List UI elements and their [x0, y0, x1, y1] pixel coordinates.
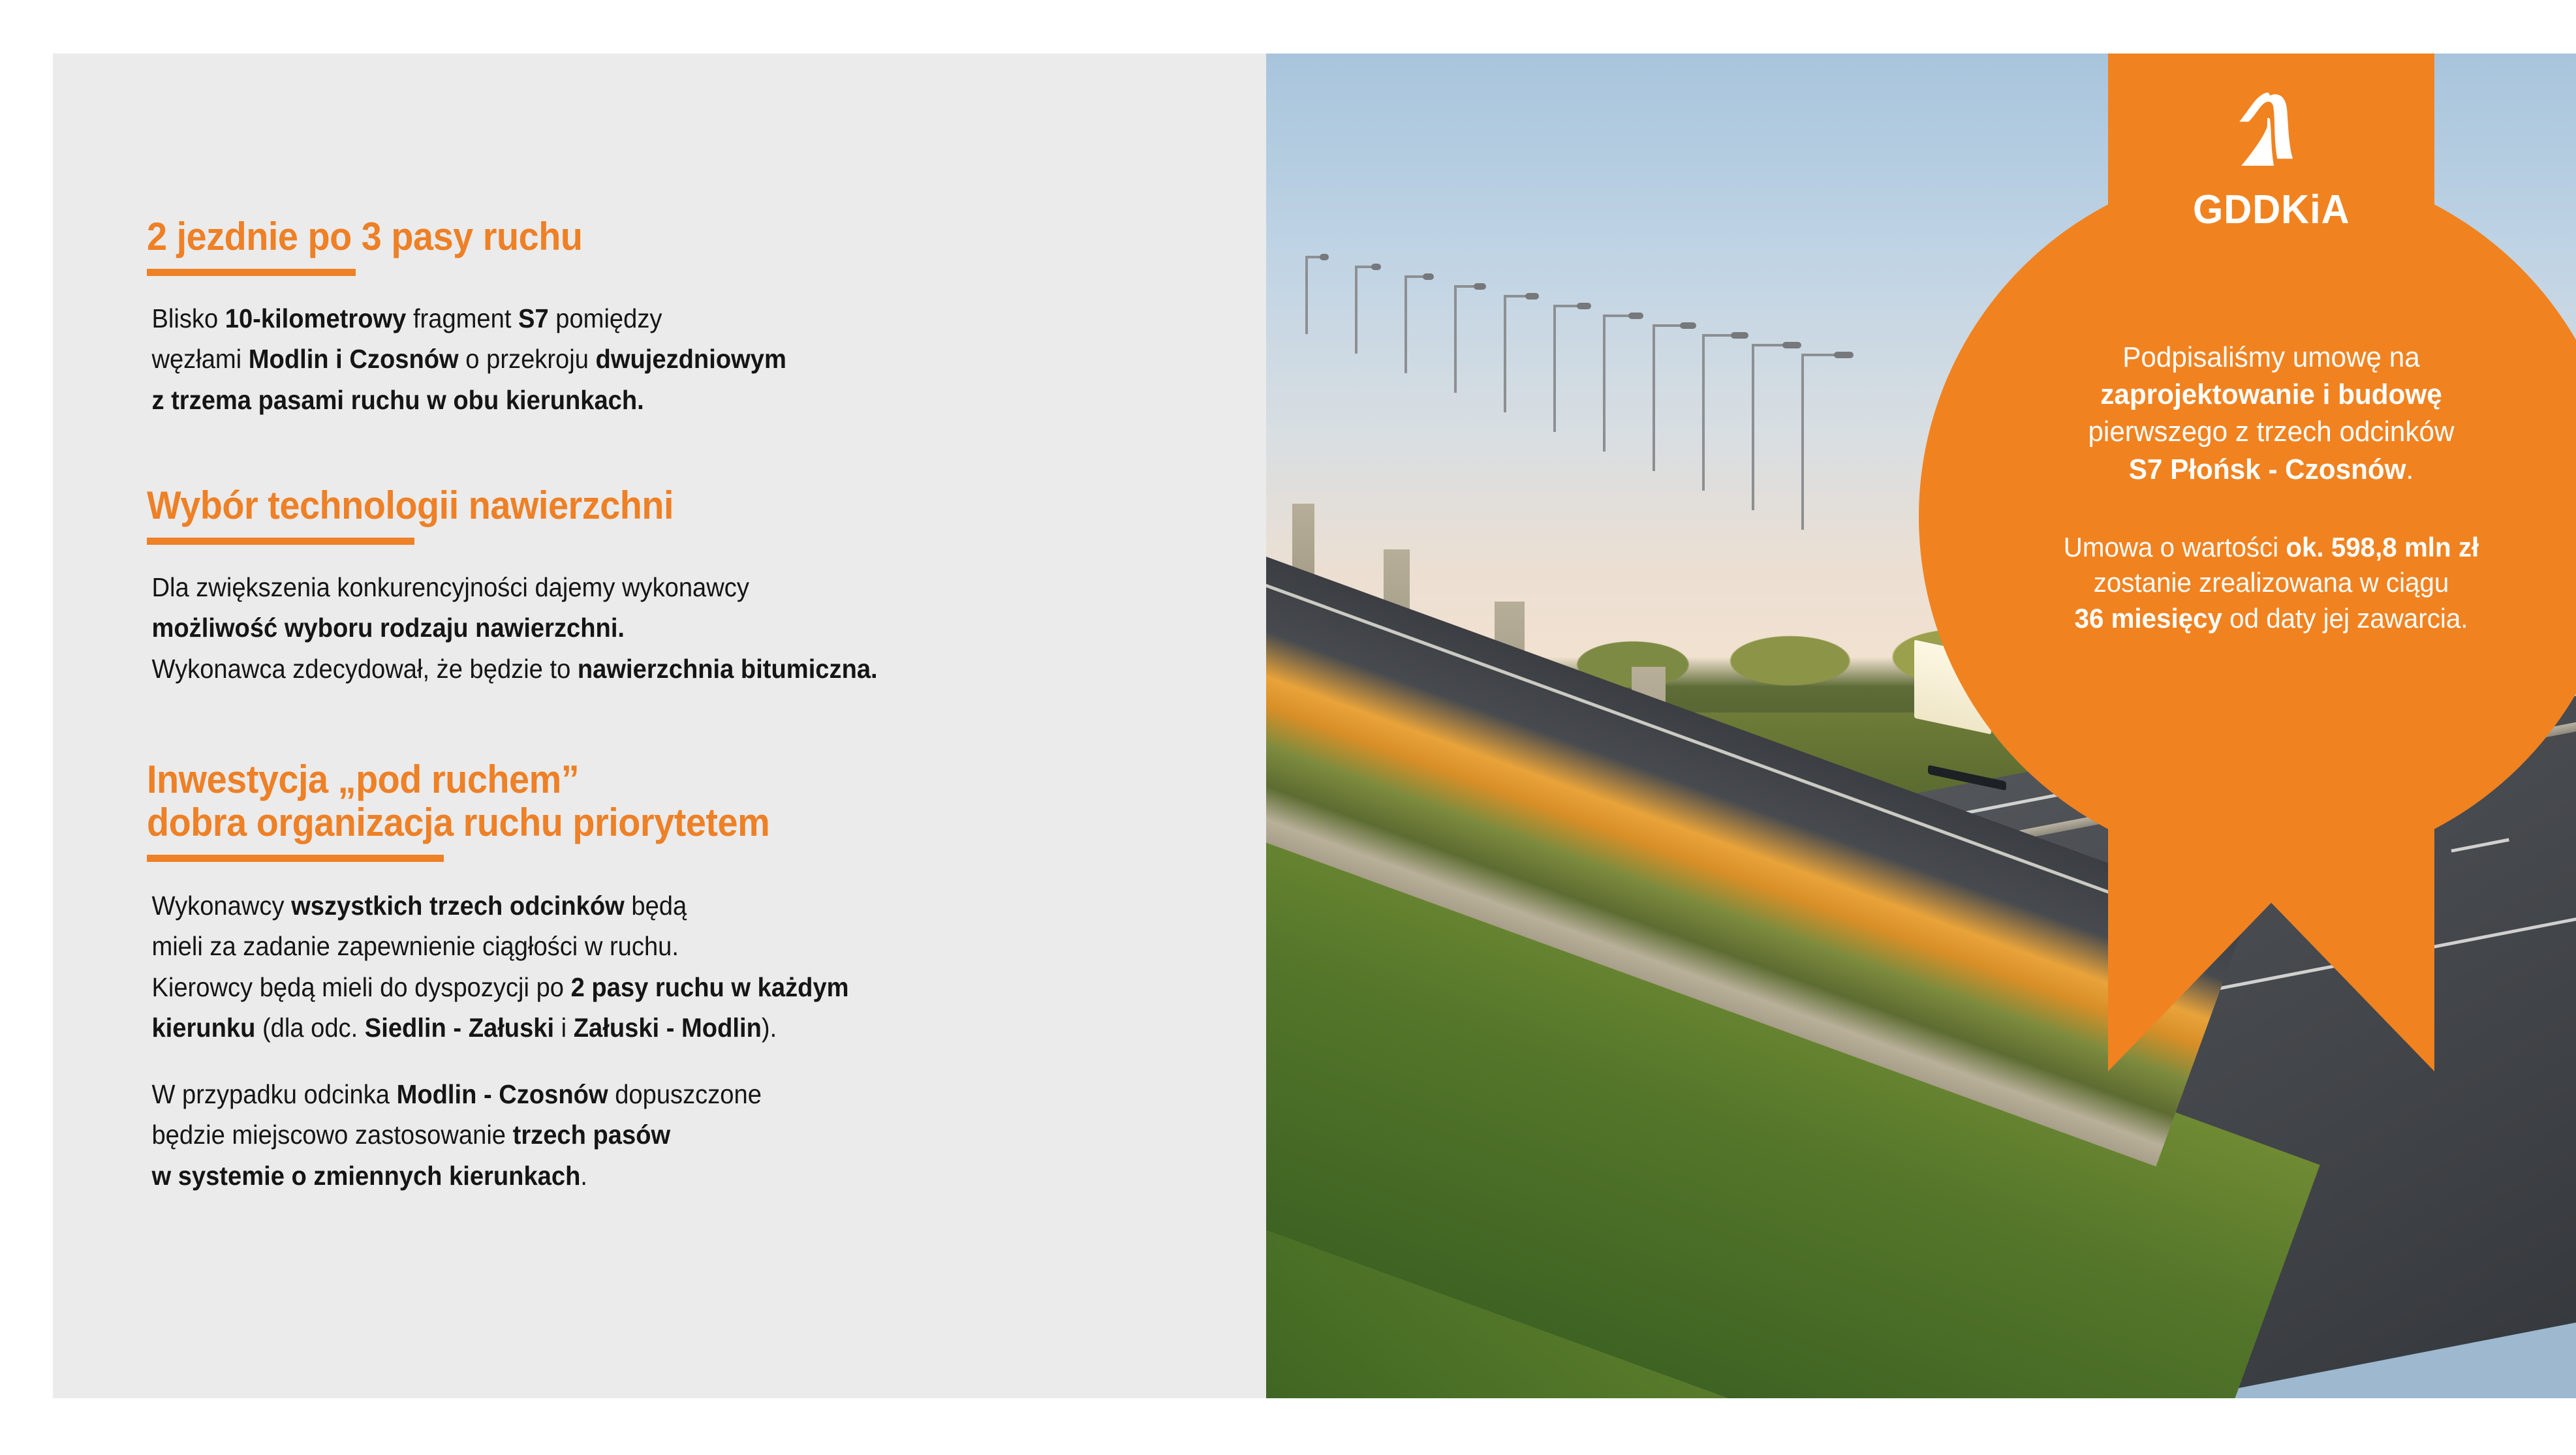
plain-text: Dla zwiększenia konkurencyjności dajemy … [151, 572, 749, 602]
heading-underline-rule [147, 538, 414, 545]
plain-text: ). [762, 1013, 777, 1043]
emphasis-text: 2 pasy ruchu w każdym [571, 972, 849, 1002]
plain-text: będą [625, 891, 687, 921]
content-section: Wybór technologii nawierzchniDla zwiększ… [147, 484, 1217, 689]
poster-root: 2 jezdnie po 3 pasy ruchuBlisko 10-kilom… [0, 0, 2576, 1455]
section-heading: Wybór technologii nawierzchni [147, 484, 1142, 527]
plain-text: o przekroju [459, 344, 596, 374]
plain-text: (dla odc. [255, 1013, 364, 1043]
lamp-post [1553, 305, 1556, 432]
body-paragraph: W przypadku odcinka Modlin - Czosnów dop… [151, 1074, 1142, 1196]
emphasis-text: S7 [518, 303, 549, 333]
emphasis-text: Modlin - Czosnów [397, 1079, 608, 1109]
section-body-text: Dla zwiększenia konkurencyjności dajemy … [147, 567, 1142, 689]
section-heading: Inwestycja „pod ruchem” dobra organizacj… [147, 758, 1142, 844]
plain-text: i [554, 1013, 574, 1043]
lamp-head [1834, 352, 1854, 358]
content-section: Inwestycja „pod ruchem” dobra organizacj… [147, 758, 1217, 1196]
plain-text: Wykonawca zdecydował, że będzie to [151, 654, 577, 684]
body-paragraph: Wykonawcy wszystkich trzech odcinków będ… [151, 885, 1142, 1048]
lamp-head [1628, 313, 1644, 319]
plain-text: Wykonawcy [151, 891, 291, 921]
heading-underline-rule [147, 855, 444, 862]
plain-text: mieli za zadanie zapewnienie ciągłości w… [151, 931, 679, 961]
lamp-head [1371, 264, 1382, 270]
plain-text: będzie miejscowo zastosowanie [151, 1120, 512, 1150]
plain-text: dopuszczone [608, 1079, 762, 1109]
lamp-head [1320, 254, 1329, 260]
lamp-post [1454, 285, 1457, 393]
left-column: 2 jezdnie po 3 pasy ruchuBlisko 10-kilom… [147, 215, 1217, 1196]
grass-lower [1266, 1149, 1859, 1398]
heading-underline-rule [147, 269, 356, 276]
body-paragraph: Dla zwiększenia konkurencyjności dajemy … [151, 567, 1142, 689]
lamp-head [1423, 273, 1434, 280]
emphasis-text: dwujezdniowym [596, 344, 786, 374]
lamp-head [1731, 332, 1748, 339]
box-truck-cab [2019, 688, 2065, 750]
plain-text: Kierowcy będą mieli do dyspozycji po [151, 972, 570, 1002]
emphasis-text: 10-kilometrowy [225, 303, 407, 333]
emphasis-text: Modlin i Czosnów [249, 344, 459, 374]
plain-text: węzłami [151, 344, 248, 374]
lamp-head [1474, 283, 1486, 290]
lamp-post [1305, 256, 1308, 334]
plain-text: Blisko [151, 303, 225, 333]
plain-text: pomiędzy [549, 303, 662, 333]
lamp-post [1404, 275, 1407, 373]
section-body-text: Blisko 10-kilometrowy fragment S7 pomięd… [147, 298, 1142, 420]
lamp-post [1801, 354, 1804, 530]
emphasis-text: w systemie o zmiennych kierunkach [151, 1161, 580, 1191]
body-paragraph: Blisko 10-kilometrowy fragment S7 pomięd… [151, 298, 1142, 420]
section-body-text: Wykonawcy wszystkich trzech odcinków będ… [147, 885, 1142, 1196]
plain-text: W przypadku odcinka [151, 1079, 396, 1109]
emphasis-text: wszystkich trzech odcinków [291, 891, 625, 921]
emphasis-text: nawierzchnia bitumiczna. [578, 654, 878, 684]
highway-photo: GDDKiA Podpisaliśmy umowę nazaprojektowa… [1266, 54, 2576, 1398]
plain-text: . [580, 1161, 587, 1191]
content-section: 2 jezdnie po 3 pasy ruchuBlisko 10-kilom… [147, 215, 1217, 420]
lamp-post [1504, 295, 1506, 412]
emphasis-text: trzech pasów [513, 1120, 671, 1150]
lamp-head [1782, 342, 1801, 348]
lamp-post [1603, 314, 1606, 452]
box-truck-trailer [1914, 639, 1991, 734]
emphasis-text: kierunku [151, 1013, 255, 1043]
lamp-post [1653, 324, 1655, 471]
lamp-post [1702, 334, 1705, 491]
lamp-head [1680, 322, 1696, 329]
lamp-post [1752, 344, 1754, 510]
lamp-head [1577, 303, 1591, 309]
emphasis-text: możliwość wyboru rodzaju nawierzchni. [151, 613, 625, 643]
plain-text: fragment [406, 303, 518, 333]
emphasis-text: Załuski - Modlin [574, 1013, 762, 1043]
emphasis-text: Siedlin - Załuski [365, 1013, 554, 1043]
section-heading: 2 jezdnie po 3 pasy ruchu [147, 215, 1142, 258]
emphasis-text: z trzema pasami ruchu w obu kierunkach. [151, 385, 644, 415]
lamp-post [1355, 266, 1358, 354]
lamp-head [1525, 293, 1538, 299]
